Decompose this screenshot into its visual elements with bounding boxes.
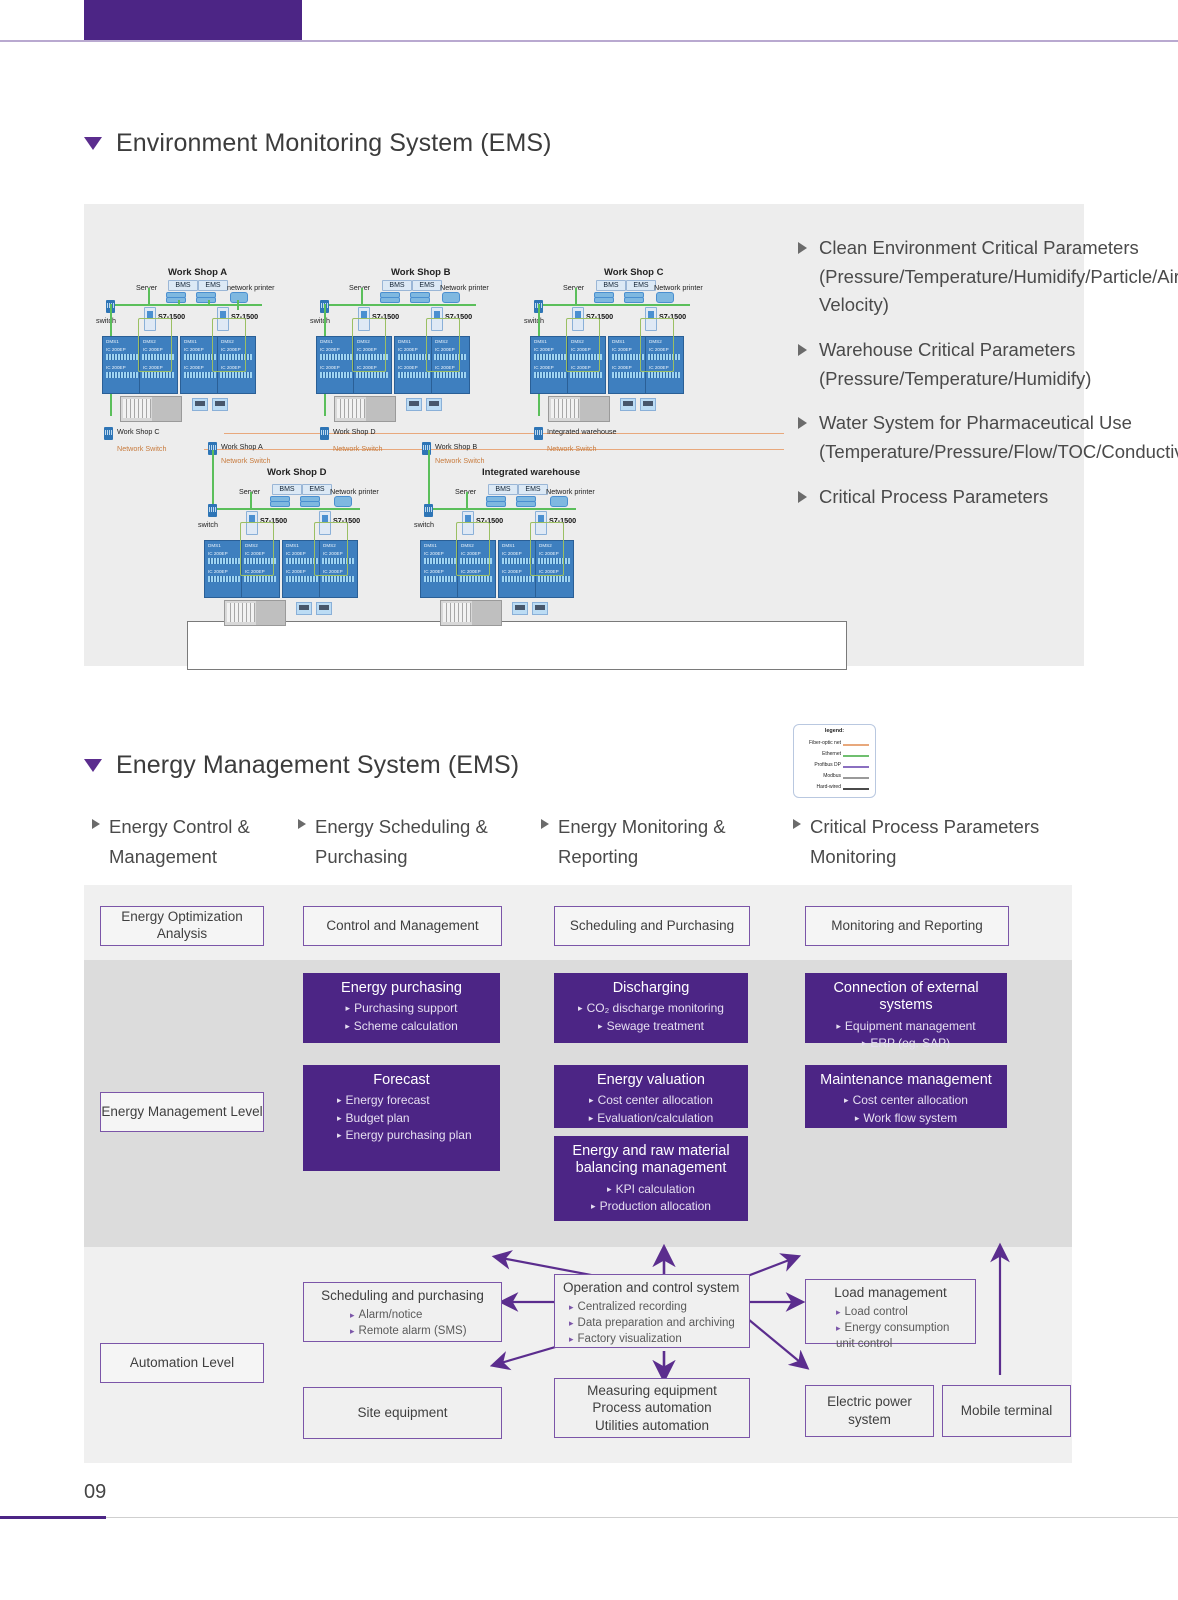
legend-swatch <box>843 788 869 790</box>
switch-label: switch <box>414 520 434 529</box>
box-item: Energy forecast <box>337 1092 494 1109</box>
dms-sub: IC 200EP <box>184 365 204 370</box>
box-title: Energy purchasing <box>303 973 500 1000</box>
box-item: Centralized recording <box>569 1299 743 1315</box>
hmi-icon <box>426 398 442 411</box>
hmi-icon <box>640 398 656 411</box>
hmi-icon <box>406 398 422 411</box>
box-title: Maintenance management <box>805 1065 1007 1092</box>
automation-box-operation-control: Operation and control system Centralized… <box>554 1274 750 1348</box>
profibus-loop <box>352 318 386 372</box>
header-box-monitoring-reporting: Monitoring and Reporting <box>805 906 1009 946</box>
page-header-bar <box>0 0 1178 42</box>
profibus-loop <box>640 318 674 372</box>
backbone-sub: Network Switch <box>117 444 167 453</box>
network-printer-label: Network printer <box>330 487 379 496</box>
box-item: Purchasing support <box>309 1000 494 1017</box>
arrow-right-icon <box>798 242 807 254</box>
legend-swatch <box>843 744 869 746</box>
ems-node: EMS <box>518 484 548 495</box>
bullet-text: Clean Environment Critical Parameters (P… <box>819 234 1178 320</box>
energy-column-headers: Energy Control & Management Energy Sched… <box>92 812 1084 871</box>
module-strip <box>220 372 252 378</box>
section2-title: Energy Management System (EMS) <box>116 751 519 780</box>
network-topology-diagram: Work Shop A Server BMS EMS network print… <box>84 204 784 666</box>
automation-box-mobile-terminal: Mobile terminal <box>942 1385 1071 1437</box>
bms-node: BMS <box>488 484 518 495</box>
switch-label: switch <box>198 520 218 529</box>
footer-accent-rule <box>0 1516 106 1519</box>
profibus-loop <box>566 318 600 372</box>
legend-title: legend: <box>794 728 875 734</box>
arrow-right-icon <box>92 819 100 829</box>
workshop-title: Work Shop B <box>391 267 450 278</box>
column-header: Energy Monitoring & Reporting <box>541 812 793 871</box>
switch-icon <box>208 504 217 517</box>
dms-sub: IC 200EP <box>612 365 632 370</box>
box-item: Equipment management <box>811 1018 1001 1035</box>
triangle-down-icon <box>84 137 102 150</box>
switch-label: switch <box>524 316 544 325</box>
ethernet-link <box>212 508 360 510</box>
purple-box-balancing-management: Energy and raw material balancing manage… <box>554 1136 748 1221</box>
dms-label: DMS1 <box>424 543 437 548</box>
network-printer-label: network printer <box>227 283 275 292</box>
hmi-icon <box>512 602 528 615</box>
backbone-sub: Network Switch <box>221 456 271 465</box>
bullet-item: Critical Process Parameters <box>798 483 1084 512</box>
legend-label: Profibus DP <box>814 762 841 768</box>
section1-title: Environment Monitoring System (EMS) <box>116 129 552 158</box>
dms-sub: IC 200EP <box>106 365 126 370</box>
hmi-icon <box>192 398 208 411</box>
fiber-link <box>204 449 784 450</box>
column-header: Energy Scheduling & Purchasing <box>298 812 541 871</box>
bms-node: BMS <box>382 280 412 291</box>
header-box-scheduling-purchasing: Scheduling and Purchasing <box>554 906 750 946</box>
dms-sub: IC 200EP <box>612 347 632 352</box>
switch-label: switch <box>310 316 330 325</box>
bullet-item: Clean Environment Critical Parameters (P… <box>798 234 1084 320</box>
ethernet-trunk <box>428 450 430 510</box>
ems-node: EMS <box>626 280 656 291</box>
box-item: Alarm/notice <box>350 1307 495 1323</box>
profibus-loop <box>530 522 564 576</box>
bms-node: BMS <box>596 280 626 291</box>
diagram-legend: legend: Fiber-optic net Ethernet Profibu… <box>793 724 876 798</box>
dms-sub: IC 200EP <box>398 347 418 352</box>
ethernet-trunk <box>212 450 214 510</box>
header-rule <box>0 40 1178 42</box>
environment-monitoring-panel: Work Shop A Server BMS EMS network print… <box>84 204 1084 666</box>
ethernet-link <box>208 300 210 306</box>
legend-swatch <box>843 755 869 757</box>
network-printer-label: Network printer <box>654 283 703 292</box>
automation-box-electric-power-system: Electric power system <box>805 1385 934 1437</box>
profibus-loop <box>240 522 274 576</box>
box-item: Production allocation <box>560 1198 742 1215</box>
legend-label: Fiber-optic net <box>809 740 841 746</box>
dms-sub: IC 200EP <box>424 569 444 574</box>
ethernet-link <box>361 288 363 306</box>
legend-item: Fiber-optic net <box>797 740 871 748</box>
backbone-switch-icon <box>320 427 329 440</box>
dms-label: DMS1 <box>398 339 411 344</box>
arrow-right-icon <box>793 819 801 829</box>
box-item: Sewage treatment <box>560 1018 742 1035</box>
hmi-icon <box>620 398 636 411</box>
backbone-label: Work Shop B <box>435 442 477 451</box>
fiber-link <box>224 433 784 434</box>
profibus-loop <box>138 318 172 372</box>
network-printer-label: Network printer <box>440 283 489 292</box>
legend-label: Modbus <box>823 773 841 779</box>
section-heading-energy-management: Energy Management System (EMS) <box>84 751 519 780</box>
module-strip <box>184 372 216 378</box>
ethernet-link <box>575 288 577 306</box>
box-item: Factory visualization <box>569 1331 743 1347</box>
legend-item: Modbus <box>797 773 871 781</box>
purple-box-external-systems: Connection of external systems Equipment… <box>805 973 1007 1043</box>
box-item: CO₂ discharge monitoring <box>560 1000 742 1017</box>
box-item: Data preparation and archiving <box>569 1315 743 1331</box>
switch-icon <box>424 504 433 517</box>
bms-node: BMS <box>168 280 198 291</box>
ethernet-link <box>538 304 690 306</box>
arrow-right-icon <box>798 344 807 356</box>
arrow-right-icon <box>798 491 807 503</box>
equipment-rack-icon <box>334 396 396 422</box>
dms-sub: IC 200EP <box>534 347 554 352</box>
dms-sub: IC 200EP <box>502 569 522 574</box>
legend-item: Ethernet <box>797 751 871 759</box>
legend-item: Hard-wired <box>797 784 871 792</box>
box-item: Energy purchasing plan <box>337 1127 494 1144</box>
box-title: Connection of external systems <box>805 973 1007 1018</box>
box-item: Evaluation/calculation <box>560 1110 742 1127</box>
header-box-control-management: Control and Management <box>303 906 502 946</box>
box-item: Budget plan <box>337 1110 494 1127</box>
automation-box-measuring-equipment: Measuring equipment Process automation U… <box>554 1378 750 1438</box>
legend-swatch <box>843 777 869 779</box>
backbone-sub: Network Switch <box>333 444 383 453</box>
purple-box-energy-valuation: Energy valuation Cost center allocation … <box>554 1065 748 1128</box>
ethernet-link <box>324 304 476 306</box>
profibus-loop <box>426 318 460 372</box>
equipment-rack-icon <box>440 600 502 626</box>
bullet-text: Water System for Pharmaceutical Use (Tem… <box>819 409 1178 466</box>
backbone-label: Work Shop C <box>117 427 160 436</box>
ethernet-link <box>178 300 180 306</box>
dms-sub: IC 200EP <box>106 347 126 352</box>
page-number: 09 <box>84 1481 106 1504</box>
profibus-loop <box>456 522 490 576</box>
equipment-rack-icon <box>224 600 286 626</box>
dms-sub: IC 200EP <box>286 569 306 574</box>
bms-node: BMS <box>272 484 302 495</box>
section-heading-environment-monitoring: Environment Monitoring System (EMS) <box>84 129 552 158</box>
equipment-rack-icon <box>120 396 182 422</box>
ethernet-link <box>466 492 468 510</box>
dms-label: DMS1 <box>184 339 197 344</box>
environment-bullet-list: Clean Environment Critical Parameters (P… <box>798 234 1084 527</box>
column-header: Energy Control & Management <box>92 812 298 871</box>
dms-sub: IC 200EP <box>424 551 444 556</box>
box-item: Load control <box>836 1304 969 1320</box>
box-item: Remote alarm (SMS) <box>350 1323 495 1339</box>
level-label-optimization: Energy Optimization Analysis <box>100 906 264 946</box>
ethernet-link <box>428 508 576 510</box>
bullet-item: Warehouse Critical Parameters (Pressure/… <box>798 336 1084 393</box>
automation-box-site-equipment: Site equipment <box>303 1387 502 1439</box>
box-item: KPI calculation <box>560 1181 742 1198</box>
arrow-right-icon <box>541 819 549 829</box>
box-title: Operation and control system <box>555 1275 749 1299</box>
arrow-right-icon <box>298 819 306 829</box>
workshop-title: Integrated warehouse <box>482 467 580 478</box>
backbone-label: Integrated warehouse <box>547 427 617 436</box>
energy-management-diagram: Energy Optimization Analysis Energy Mana… <box>84 885 1072 1463</box>
level-label-energy-management: Energy Management Level <box>100 1092 264 1132</box>
dms-label: DMS1 <box>534 339 547 344</box>
legend-label: Hard-wired <box>817 784 841 790</box>
ems-node: EMS <box>198 280 228 291</box>
box-item: Scheme calculation <box>309 1018 494 1035</box>
box-item: Cost center allocation <box>560 1092 742 1109</box>
backbone-sub: Network Switch <box>435 456 485 465</box>
workshop-title: Work Shop A <box>168 267 227 278</box>
ethernet-link <box>110 304 262 306</box>
automation-box-load-management: Load management Load control Energy cons… <box>805 1279 976 1344</box>
purple-box-forecast: Forecast Energy forecast Budget plan Ene… <box>303 1065 500 1171</box>
workshop-title: Work Shop C <box>604 267 663 278</box>
module-strip <box>106 372 138 378</box>
footer-rule <box>106 1517 1178 1518</box>
purple-box-discharging: Discharging CO₂ discharge monitoring Sew… <box>554 973 748 1043</box>
dms-label: DMS1 <box>106 339 119 344</box>
dms-sub: IC 200EP <box>502 551 522 556</box>
dms-label: DMS1 <box>208 543 221 548</box>
column-header-text: Energy Monitoring & Reporting <box>558 812 793 871</box>
column-header-text: Energy Control & Management <box>109 812 298 871</box>
backbone-switch-icon <box>534 427 543 440</box>
dms-label: DMS1 <box>286 543 299 548</box>
box-title: Load management <box>806 1280 975 1304</box>
ethernet-link <box>148 288 150 306</box>
dms-sub: IC 200EP <box>320 365 340 370</box>
backbone-label: Work Shop A <box>221 442 263 451</box>
box-title: Scheduling and purchasing <box>304 1283 501 1307</box>
dms-label: DMS1 <box>502 543 515 548</box>
box-title: Forecast <box>303 1065 500 1092</box>
box-title: Energy and raw material balancing manage… <box>554 1136 748 1181</box>
box-title: Discharging <box>554 973 748 1000</box>
legend-swatch <box>843 766 869 768</box>
dms-label: DMS1 <box>320 339 333 344</box>
network-printer-label: Network printer <box>546 487 595 496</box>
triangle-down-icon <box>84 759 102 772</box>
dms-sub: IC 200EP <box>208 569 228 574</box>
dms-sub: IC 200EP <box>534 365 554 370</box>
ethernet-link <box>250 492 252 510</box>
hmi-icon <box>296 602 312 615</box>
dms-sub: IC 200EP <box>286 551 306 556</box>
server-label: Server <box>563 283 584 292</box>
ethernet-link <box>237 304 239 310</box>
hmi-icon <box>316 602 332 615</box>
module-strip <box>106 354 138 360</box>
box-item: ERP (eg. SAP) <box>811 1035 1001 1052</box>
column-header-text: Critical Process Parameters Monitoring <box>810 812 1073 871</box>
dms-sub: IC 200EP <box>320 347 340 352</box>
purple-box-maintenance-management: Maintenance management Cost center alloc… <box>805 1065 1007 1128</box>
bullet-text: Critical Process Parameters <box>819 483 1048 512</box>
dms-sub: IC 200EP <box>398 365 418 370</box>
hmi-icon <box>532 602 548 615</box>
workshop-title: Work Shop D <box>267 467 326 478</box>
profibus-loop <box>314 522 348 576</box>
ems-node: EMS <box>302 484 332 495</box>
server-label: Server <box>136 283 157 292</box>
bullet-text: Warehouse Critical Parameters (Pressure/… <box>819 336 1091 393</box>
purple-box-energy-purchasing: Energy purchasing Purchasing support Sch… <box>303 973 500 1043</box>
backbone-sub: Network Switch <box>547 444 597 453</box>
legend-item: Profibus DP <box>797 762 871 770</box>
network-backbone-rail <box>187 621 847 670</box>
switch-label: switch <box>96 316 116 325</box>
bullet-item: Water System for Pharmaceutical Use (Tem… <box>798 409 1084 466</box>
column-header-text: Energy Scheduling & Purchasing <box>315 812 541 871</box>
box-item: Energy consumption unit control <box>836 1320 969 1352</box>
profibus-loop <box>212 318 246 372</box>
box-title: Energy valuation <box>554 1065 748 1092</box>
backbone-label: Work Shop D <box>333 427 376 436</box>
legend-label: Ethernet <box>822 751 841 757</box>
column-header: Critical Process Parameters Monitoring <box>793 812 1073 871</box>
dms-label: DMS1 <box>612 339 625 344</box>
automation-box-scheduling-purchasing: Scheduling and purchasing Alarm/notice R… <box>303 1282 502 1342</box>
level-label-automation: Automation Level <box>100 1343 264 1383</box>
equipment-rack-icon <box>548 396 610 422</box>
module-strip <box>142 372 174 378</box>
backbone-switch-icon <box>104 427 113 440</box>
arrow-right-icon <box>798 417 807 429</box>
box-item: Cost center allocation <box>811 1092 1001 1109</box>
dms-sub: IC 200EP <box>208 551 228 556</box>
ems-node: EMS <box>412 280 442 291</box>
dms-sub: IC 200EP <box>184 347 204 352</box>
server-label: Server <box>349 283 370 292</box>
box-item: Work flow system <box>811 1110 1001 1127</box>
hmi-icon <box>212 398 228 411</box>
header-accent-tab <box>84 0 302 40</box>
